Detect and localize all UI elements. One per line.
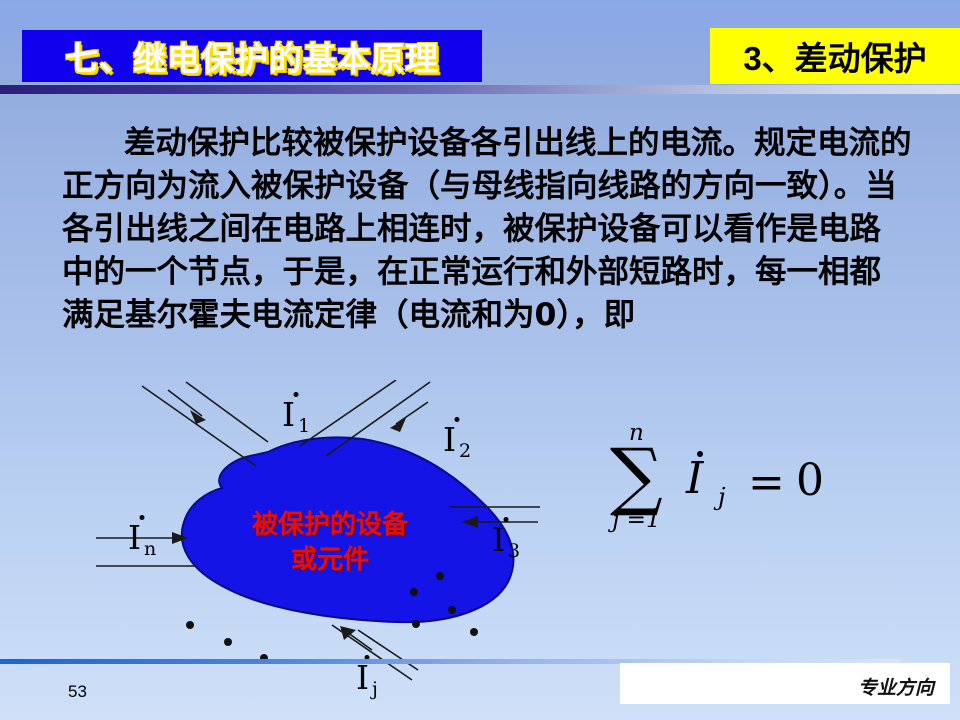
summation-group: n ∑ j =1 — [610, 423, 663, 531]
phasor-dot-i3 — [504, 517, 509, 522]
footer-brand-text: 专业方向 — [858, 673, 934, 700]
arrow-head-i2 — [390, 418, 406, 432]
kirchhoff-formula: n ∑ j =1 I j = 0 — [600, 405, 830, 545]
formula-result: 0 — [796, 455, 824, 506]
current-line-i1 — [142, 382, 268, 466]
current-label-i2: I2 — [443, 420, 471, 462]
formula-variable: I — [686, 453, 703, 504]
protected-equipment-blob — [182, 437, 514, 622]
formula-equals-sign: = — [748, 457, 785, 508]
current-subscript-i2: 2 — [456, 440, 471, 462]
formula-variable-subscript: j — [718, 483, 725, 511]
section-title-text: 七、继电保护的基本原理 — [65, 32, 439, 80]
formula-phasor-dot — [697, 451, 703, 457]
arrow-head-ij — [340, 626, 356, 640]
current-subscript-in: n — [141, 538, 156, 560]
current-label-i1: I1 — [282, 395, 310, 437]
section-title-box: 七、继电保护的基本原理 — [22, 30, 482, 82]
formula-variable-letter: I — [686, 453, 703, 504]
current-label-i3: I3 — [492, 520, 520, 562]
current-label-ij: Ij — [356, 658, 378, 700]
slide-canvas: 七、继电保护的基本原理 3、差动保护 差动保护比较被保护设备各引出线上的电流。规… — [0, 0, 960, 720]
current-symbol-i2: I — [443, 420, 456, 459]
body-paragraph: 差动保护比较被保护设备各引出线上的电流。规定电流的正方向为流入被保护设备（与母线… — [62, 122, 912, 337]
current-symbol-i1: I — [282, 395, 295, 434]
current-subscript-i3: 3 — [505, 540, 520, 562]
phasor-dot-in — [140, 515, 145, 520]
phasor-dot-i2 — [455, 417, 460, 422]
current-subscript-i1: 1 — [295, 415, 310, 437]
footer-brand-box: 专业方向 — [620, 663, 950, 704]
current-symbol-i3: I — [492, 520, 505, 559]
current-symbol-in: I — [128, 518, 141, 557]
current-label-in: In — [128, 518, 156, 560]
topic-title-box: 3、差动保护 — [710, 28, 960, 84]
summation-lower-limit: j =1 — [610, 509, 663, 531]
current-subscript-ij: j — [369, 678, 378, 700]
page-number: 53 — [68, 682, 87, 702]
topic-title-text: 3、差动保护 — [743, 32, 926, 80]
summation-sigma-icon: ∑ — [610, 443, 663, 509]
header-divider — [0, 85, 960, 94]
phasor-dot-i1 — [294, 392, 299, 397]
